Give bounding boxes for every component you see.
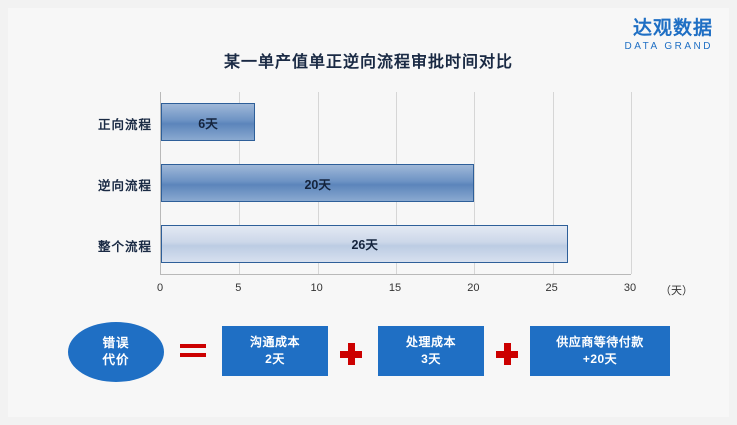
- cost-item-2-name: 供应商等待付款: [556, 334, 644, 351]
- bar-0: 6天: [161, 103, 255, 141]
- error-cost-line1: 错误: [102, 335, 129, 352]
- cost-item-0: 沟通成本 2天: [222, 326, 328, 376]
- bar-value-label-0: 6天: [198, 113, 217, 132]
- cost-item-2: 供应商等待付款 +20天: [530, 326, 670, 376]
- cost-item-2-value: +20天: [583, 351, 617, 368]
- x-tick-label-4: 20: [458, 282, 488, 294]
- cost-item-0-value: 2天: [265, 351, 285, 368]
- page-title: 某一单产值单正逆向流程审批时间对比: [0, 48, 737, 72]
- bar-value-label-2: 26天: [351, 234, 377, 253]
- x-tick-label-1: 5: [223, 282, 253, 294]
- x-tick-label-6: 30: [615, 282, 645, 294]
- x-tick-label-3: 15: [380, 282, 410, 294]
- error-cost-line2: 代价: [102, 352, 129, 369]
- category-label-0: 正向流程: [60, 114, 152, 133]
- slide: 达观数据 DATA GRAND 某一单产值单正逆向流程审批时间对比 6天20天2…: [0, 0, 737, 425]
- cost-item-0-name: 沟通成本: [250, 334, 300, 351]
- cost-item-1-value: 3天: [421, 351, 441, 368]
- chart-gridline: [631, 92, 632, 274]
- x-tick-label-2: 10: [302, 282, 332, 294]
- equals-icon: [178, 342, 208, 360]
- x-axis-unit-label: （天）: [660, 282, 693, 298]
- plus-icon-1: [340, 343, 362, 365]
- error-cost-oval: 错误 代价: [68, 322, 164, 382]
- bar-1: 20天: [161, 164, 474, 202]
- bar-2: 26天: [161, 225, 568, 263]
- plus-icon-2: [496, 343, 518, 365]
- category-label-1: 逆向流程: [60, 175, 152, 194]
- chart-plot-area: 6天20天26天: [160, 92, 631, 275]
- cost-item-1-name: 处理成本: [406, 334, 456, 351]
- bar-value-label-1: 20天: [304, 174, 330, 193]
- logo-chinese-text: 达观数据: [624, 18, 713, 40]
- bar-chart: 6天20天26天 正向流程逆向流程整个流程 051015202530 （天）: [60, 92, 680, 282]
- category-label-2: 整个流程: [60, 236, 152, 255]
- x-tick-label-5: 25: [537, 282, 567, 294]
- cost-formula: 错误 代价 沟通成本 2天 处理成本 3天 供应商等待付款 +20天: [60, 318, 680, 388]
- x-tick-label-0: 0: [145, 282, 175, 294]
- cost-item-1: 处理成本 3天: [378, 326, 484, 376]
